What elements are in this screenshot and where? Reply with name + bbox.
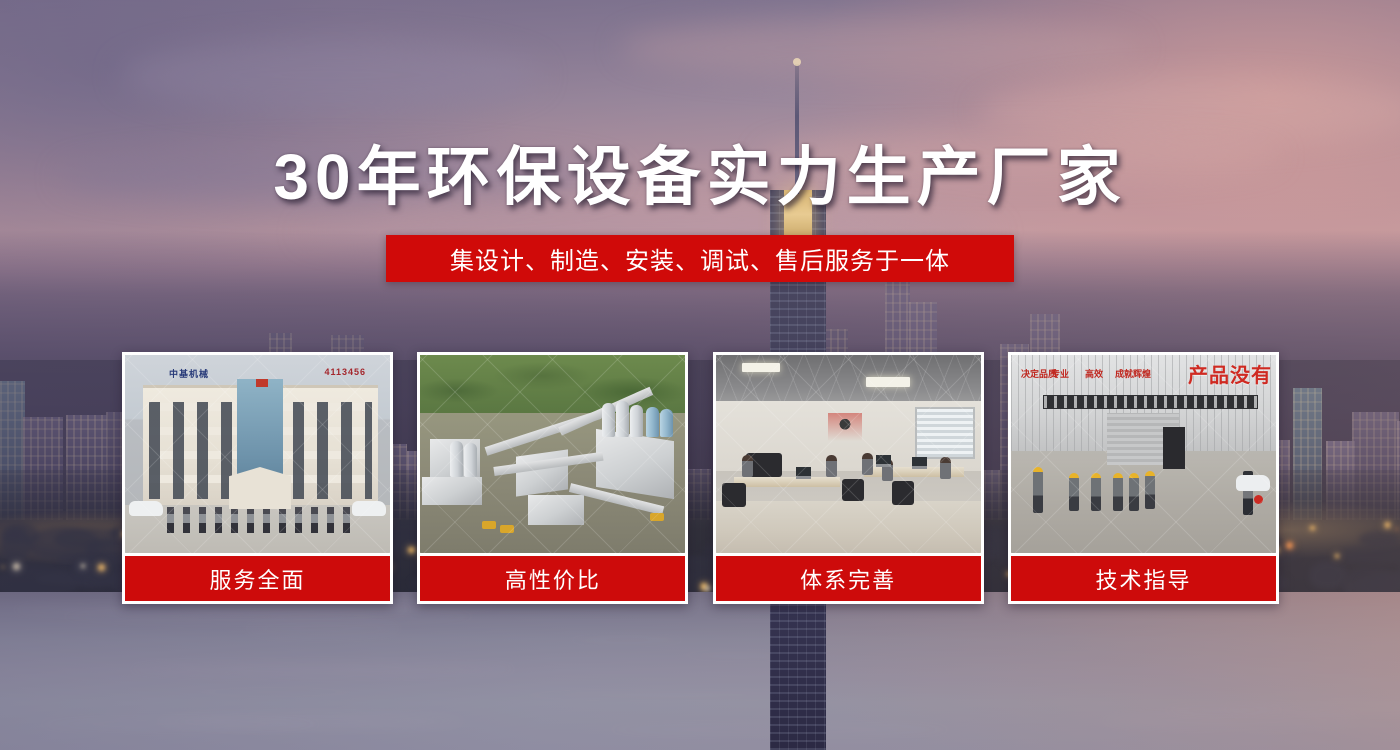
employee bbox=[940, 457, 951, 479]
hard-hat bbox=[1145, 471, 1155, 476]
employee bbox=[862, 453, 873, 475]
silo bbox=[602, 403, 615, 437]
flag-icon bbox=[256, 379, 268, 387]
factory-yard bbox=[1011, 461, 1276, 553]
plant-building bbox=[528, 495, 584, 525]
wall-slogan-large: 产品没有 bbox=[1188, 359, 1272, 388]
monitor bbox=[796, 467, 811, 479]
parked-car bbox=[1236, 475, 1270, 491]
hard-hat bbox=[1129, 473, 1139, 478]
plant-building bbox=[422, 477, 482, 505]
office-chair bbox=[842, 479, 864, 501]
promo-banner: 30年环保设备实力生产厂家 集设计、制造、安装、调试、售后服务于一体 中基机械 … bbox=[0, 0, 1400, 750]
silo bbox=[450, 441, 463, 477]
staff-person bbox=[327, 507, 334, 533]
excavator bbox=[500, 525, 514, 533]
staff-person bbox=[199, 507, 206, 533]
hard-hat bbox=[1091, 473, 1101, 478]
building-sign-company: 中基机械 bbox=[169, 367, 209, 380]
page-title: 30年环保设备实力生产厂家 bbox=[0, 126, 1400, 218]
office-floor bbox=[716, 501, 981, 553]
card-caption: 高性价比 bbox=[420, 556, 685, 601]
factory-door bbox=[1163, 427, 1185, 469]
silo bbox=[646, 407, 659, 437]
parked-car bbox=[129, 501, 163, 516]
wall-decal bbox=[828, 413, 862, 441]
staff-person bbox=[295, 507, 302, 533]
worker bbox=[1091, 477, 1101, 511]
monitor bbox=[876, 455, 891, 467]
employee bbox=[742, 455, 753, 477]
staff-person bbox=[183, 507, 190, 533]
card-photo-industrial-plant bbox=[420, 355, 685, 553]
plant-building bbox=[516, 449, 568, 496]
worker bbox=[1069, 477, 1079, 511]
feature-card[interactable]: 体系完善 bbox=[713, 352, 984, 604]
card-photo-factory-workers: 产品没有 决定品质 专业 高效 成就辉煌 bbox=[1011, 355, 1276, 553]
forest-backdrop bbox=[420, 355, 685, 415]
staff-person bbox=[231, 507, 238, 533]
card-caption: 服务全面 bbox=[125, 556, 390, 601]
red-helmet bbox=[1254, 495, 1263, 504]
employee bbox=[826, 455, 837, 477]
silo bbox=[660, 409, 673, 437]
wall-slogan-small: 成就辉煌 bbox=[1115, 369, 1151, 380]
staff-person bbox=[247, 507, 254, 533]
facade-window-strip bbox=[1043, 395, 1258, 409]
excavator bbox=[650, 513, 664, 521]
staff-person bbox=[215, 507, 222, 533]
wall-slogan-small: 专业 bbox=[1051, 369, 1069, 380]
worker bbox=[1129, 477, 1139, 511]
silo bbox=[616, 401, 629, 437]
monitor bbox=[912, 457, 927, 469]
staff-person bbox=[263, 507, 270, 533]
hard-hat bbox=[1113, 473, 1123, 478]
silo bbox=[464, 443, 477, 477]
staff-person bbox=[343, 507, 350, 533]
card-caption: 体系完善 bbox=[716, 556, 981, 601]
card-photo-office-building: 中基机械 4113456 bbox=[125, 355, 390, 553]
silo bbox=[630, 405, 643, 437]
ceiling-light bbox=[866, 377, 910, 387]
staff-person bbox=[311, 507, 318, 533]
staff-person bbox=[279, 507, 286, 533]
worker bbox=[1033, 471, 1043, 513]
office-window-blinds bbox=[915, 407, 975, 459]
hard-hat bbox=[1033, 467, 1043, 472]
staff-person bbox=[167, 507, 174, 533]
office-chair bbox=[892, 481, 914, 505]
wall-slogan-small: 高效 bbox=[1085, 369, 1103, 380]
hard-hat bbox=[1069, 473, 1079, 478]
feature-card[interactable]: 中基机械 4113456 服务全面 bbox=[122, 352, 393, 604]
feature-card[interactable]: 产品没有 决定品质 专业 高效 成就辉煌 bbox=[1008, 352, 1279, 604]
feature-card-row: 中基机械 4113456 服务全面 bbox=[122, 352, 1279, 604]
excavator bbox=[482, 521, 496, 529]
subtitle-ribbon: 集设计、制造、安装、调试、售后服务于一体 bbox=[386, 235, 1014, 282]
worker bbox=[1145, 475, 1155, 509]
feature-card[interactable]: 高性价比 bbox=[417, 352, 688, 604]
building-sign-phone: 4113456 bbox=[324, 367, 366, 377]
office-chair bbox=[722, 483, 746, 507]
office-desk bbox=[734, 477, 840, 487]
card-caption: 技术指导 bbox=[1011, 556, 1276, 601]
ceiling-light bbox=[742, 363, 780, 372]
worker bbox=[1113, 477, 1123, 511]
plaza-ground bbox=[125, 505, 390, 553]
card-photo-office-interior bbox=[716, 355, 981, 553]
plant-building bbox=[596, 429, 674, 499]
parked-car bbox=[352, 501, 386, 516]
